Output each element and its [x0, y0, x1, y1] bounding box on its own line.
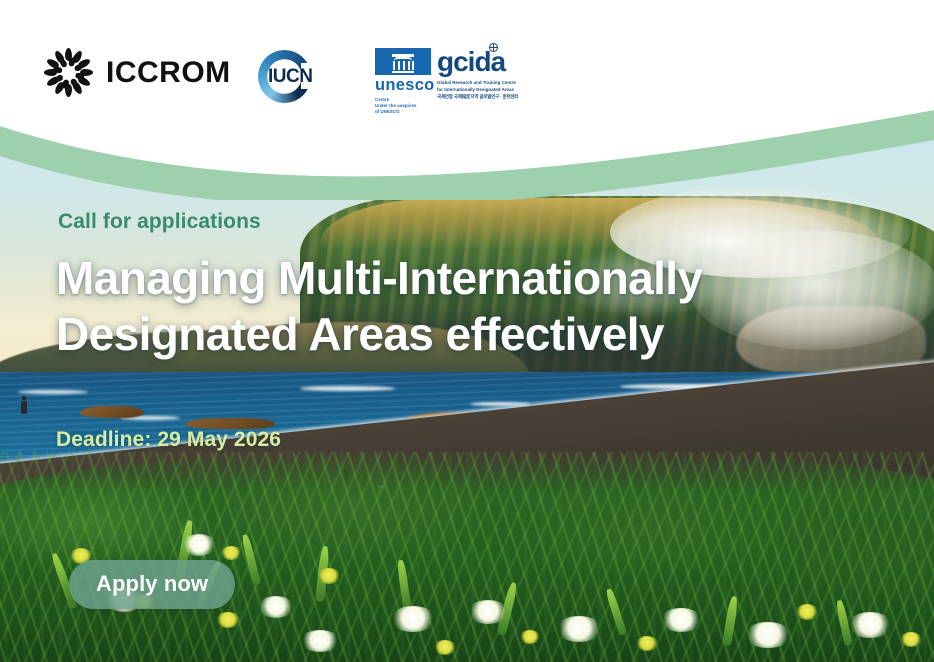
unesco-blue-box — [375, 48, 431, 75]
deadline-text: Deadline: 29 May 2026 — [56, 428, 281, 452]
gcida-subtitle-line-1: Global Research and Training Centre — [437, 79, 523, 86]
iucn-wordmark: IUCN — [268, 67, 312, 86]
foreground-vegetation — [0, 452, 934, 662]
yellow-flower — [796, 604, 818, 620]
radial-burst-icon — [44, 48, 93, 97]
globe-icon — [489, 43, 498, 52]
vegetation-leaf-texture — [0, 452, 934, 662]
whitecap — [18, 390, 88, 394]
unesco-subtitle-line-3: of UNESCO — [375, 109, 433, 115]
yellow-flower — [318, 568, 340, 584]
gcida-subtitle-line-2: for Internationally Designated Areas — [437, 86, 523, 93]
headline-line-1: Managing Multi-Internationally — [56, 252, 702, 304]
yellow-flower — [520, 630, 540, 644]
apply-now-button[interactable]: Apply now — [69, 560, 235, 609]
call-for-applications-banner: ICCROM IUCN unesco — [0, 0, 934, 662]
yellow-flower — [434, 640, 456, 655]
white-flower — [848, 612, 892, 638]
gcida-subtitle: Global Research and Training Centre for … — [437, 79, 523, 100]
unesco-logo[interactable]: unesco Centre Under the auspices of UNES… — [375, 48, 433, 106]
white-flower — [300, 630, 340, 652]
white-flower — [744, 622, 792, 648]
person-head — [22, 396, 26, 400]
white-flower — [258, 596, 294, 618]
gcida-logo[interactable]: gcida Global Research and Training Centr… — [437, 48, 523, 100]
person-distant — [20, 396, 27, 412]
white-flower — [390, 606, 436, 632]
gcida-subtitle-line-3-korean: 국제연합 국제指定지역 글로벌연구 · 훈련센터 — [437, 93, 523, 100]
classical-temple-icon — [392, 54, 414, 73]
whitecap — [300, 386, 395, 391]
unesco-wordmark: unesco — [375, 77, 433, 94]
white-flower — [660, 608, 702, 632]
headline-line-2: Designated Areas effectively — [56, 306, 786, 362]
iucn-logo[interactable]: IUCN — [256, 49, 322, 104]
yellow-flower — [900, 632, 922, 647]
yellow-flower — [216, 612, 240, 628]
partner-logo-bar: ICCROM IUCN unesco — [0, 0, 934, 130]
white-flower — [556, 616, 602, 642]
iccrom-logo[interactable]: ICCROM — [44, 48, 231, 97]
yellow-flower — [636, 636, 658, 651]
white-flower — [182, 534, 216, 556]
unesco-subtitle: Centre Under the auspices of UNESCO — [375, 97, 433, 116]
sea-rock-left — [80, 406, 144, 418]
gcida-wordmark: gcida — [437, 48, 523, 76]
eyebrow-label: Call for applications — [58, 210, 261, 234]
white-flower — [468, 600, 508, 624]
iccrom-wordmark: ICCROM — [106, 58, 231, 88]
person-body — [21, 401, 27, 414]
page-title: Managing Multi-Internationally Designate… — [56, 250, 786, 362]
yellow-flower — [221, 546, 241, 560]
